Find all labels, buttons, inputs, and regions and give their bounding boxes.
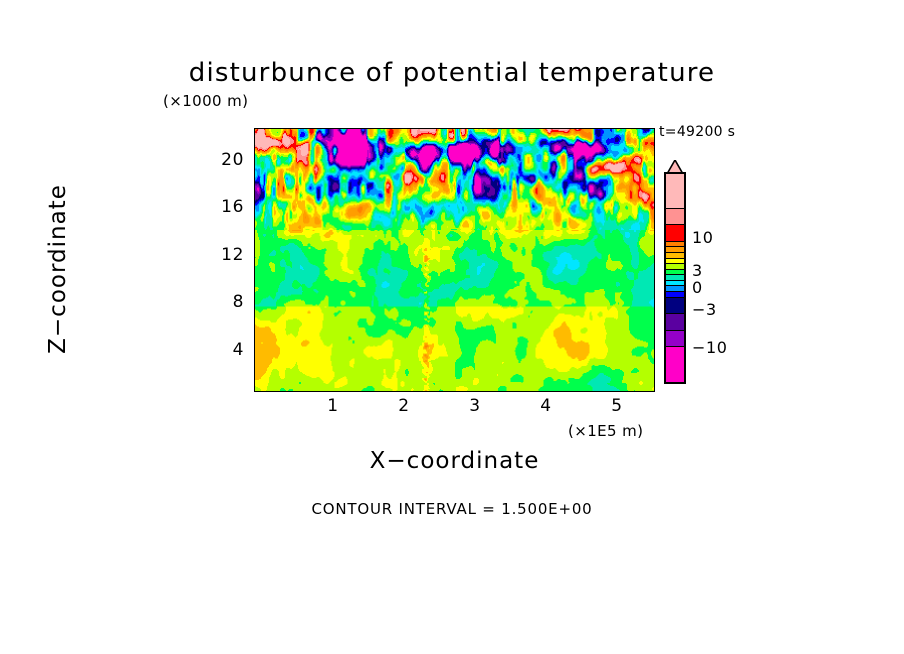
colorbar-band: [666, 331, 684, 348]
contour-field-canvas: [255, 129, 654, 391]
x-tick-label: 4: [526, 396, 566, 416]
colorbar-band: [666, 209, 684, 226]
x-axis-title: X−coordinate: [254, 448, 655, 474]
colorbar-label: 10: [692, 228, 714, 247]
y-tick-label: 4: [200, 340, 244, 360]
colorbar-label: −10: [692, 338, 728, 357]
x-tick-label: 3: [455, 396, 495, 416]
y-tick-label: 16: [200, 197, 244, 217]
y-axis-title: Z−coordinate: [45, 149, 71, 389]
y-tick-label: 12: [200, 245, 244, 265]
colorbar-band: [666, 298, 684, 315]
x-tick-label: 5: [597, 396, 637, 416]
x-tick-label: 1: [313, 396, 353, 416]
colorbar-band: [666, 314, 684, 331]
contour-plot-area[interactable]: [254, 128, 655, 392]
timestamp-label: t=49200 s: [659, 124, 735, 140]
x-axis-unit-label: (×1E5 m): [568, 422, 643, 440]
y-tick-label: 8: [200, 292, 244, 312]
colorbar-label: 0: [692, 278, 703, 297]
contour-interval-note: CONTOUR INTERVAL = 1.500E+00: [0, 500, 904, 518]
colorbar-band: [666, 225, 684, 242]
figure-canvas: disturbunce of potential temperature (×1…: [0, 0, 904, 654]
colorbar-band: [666, 347, 684, 382]
y-tick-label: 20: [200, 150, 244, 170]
colorbar-band: [666, 174, 684, 209]
page-title: disturbunce of potential temperature: [0, 58, 904, 88]
z-axis-unit-label: (×1000 m): [163, 92, 248, 110]
colorbar-label: −3: [692, 300, 717, 319]
x-tick-label: 2: [384, 396, 424, 416]
colorbar[interactable]: [664, 172, 686, 384]
